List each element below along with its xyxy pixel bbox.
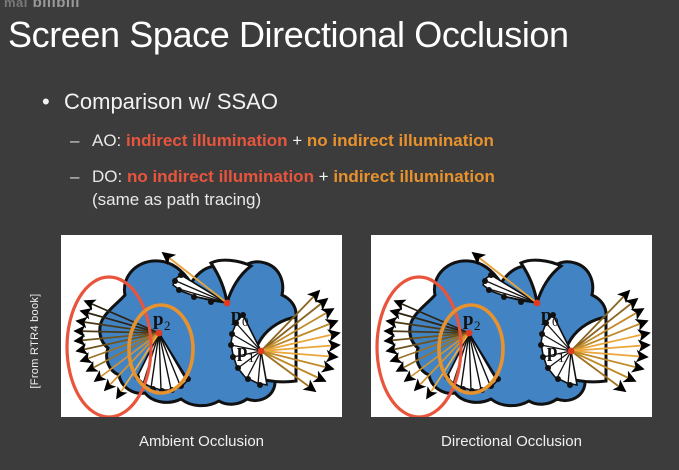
svg-text:1: 1 [248, 350, 255, 365]
bullet-item-ao: – AO: indirect illumination + no indirec… [40, 130, 650, 152]
svg-text:p: p [541, 305, 552, 326]
ao-prefix: AO: [92, 131, 126, 150]
svg-text:p: p [237, 341, 248, 362]
do-operator: + [314, 167, 333, 186]
svg-text:p: p [547, 341, 558, 362]
svg-text:p: p [463, 309, 474, 330]
svg-text:p: p [153, 309, 164, 330]
do-note: (same as path tracing) [40, 189, 650, 211]
do-term-b: indirect illumination [333, 167, 495, 186]
svg-text:0: 0 [552, 314, 559, 329]
bullet-item-do: – DO: no indirect illumination + indirec… [40, 166, 650, 188]
source-attribution-label: [From RTR4 book] [29, 276, 41, 406]
p2-point [156, 330, 163, 337]
bullet-dot-icon: • [42, 88, 50, 116]
page-title: Screen Space Directional Occlusion [8, 14, 569, 56]
figure-panel-ambient-occlusion: p 0 p 1 p 2 [61, 235, 342, 417]
p2-point [466, 330, 473, 337]
svg-text:2: 2 [474, 318, 481, 333]
bullet-list: • Comparison w/ SSAO – AO: indirect illu… [40, 88, 650, 211]
bilibili-watermark: mai bilibili [4, 0, 174, 12]
svg-text:p: p [231, 305, 242, 326]
svg-text:2: 2 [164, 318, 171, 333]
svg-text:1: 1 [558, 350, 565, 365]
svg-text:0: 0 [242, 314, 249, 329]
ao-operator: + [288, 131, 307, 150]
caption-ambient-occlusion: Ambient Occlusion [61, 433, 342, 450]
dash-marker-icon: – [70, 130, 79, 152]
do-term-a: no indirect illumination [127, 167, 314, 186]
do-prefix: DO: [92, 167, 127, 186]
bilibili-logo-icon: bilibili [33, 0, 80, 12]
watermark-text: mai [4, 0, 28, 10]
bullet-level1-label: Comparison w/ SSAO [64, 89, 278, 114]
ao-term-b: no indirect illumination [307, 131, 494, 150]
figure-panel-directional-occlusion: p 0 p 1 p 2 [371, 235, 652, 417]
dash-marker-icon: – [70, 166, 79, 188]
ao-term-a: indirect illumination [126, 131, 288, 150]
caption-directional-occlusion: Directional Occlusion [371, 433, 652, 450]
bullet-level1: • Comparison w/ SSAO [40, 88, 650, 116]
